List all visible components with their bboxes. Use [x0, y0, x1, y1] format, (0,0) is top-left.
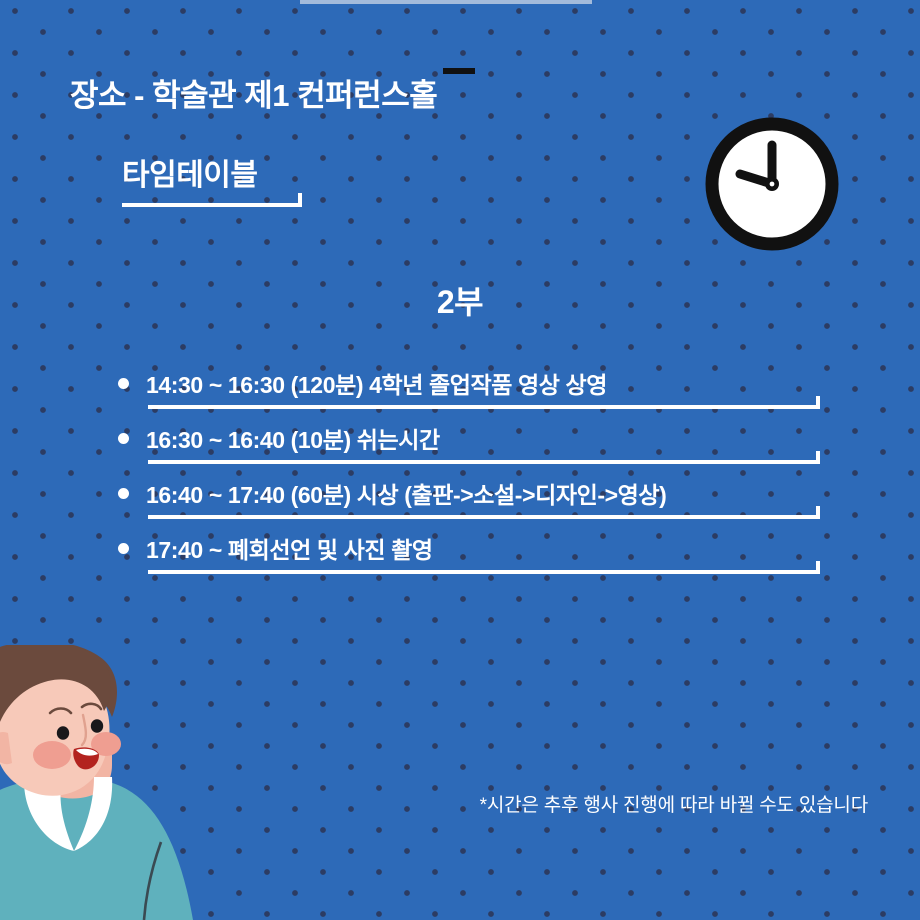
schedule-item-underline: [148, 405, 820, 409]
schedule-item-text: 16:30 ~ 16:40 (10분) 쉬는시간: [146, 421, 440, 455]
part-heading: 2부: [0, 277, 920, 323]
timetable-heading-block: 타임테이블: [122, 158, 302, 207]
schedule-item-text: 16:40 ~ 17:40 (60분) 시상 (출판->소설->디자인->영상): [146, 476, 666, 510]
schedule-item-text: 17:40 ~ 폐회선언 및 사진 촬영: [146, 531, 433, 565]
schedule-item-underline: [148, 515, 820, 519]
bullet-icon: [118, 543, 129, 554]
title-strike-bar: [443, 68, 475, 74]
top-light-strip: [300, 0, 592, 4]
timetable-underline: [122, 203, 302, 207]
boy-illustration: [0, 645, 232, 920]
clock-icon: [705, 117, 839, 251]
poster-canvas: 장소 - 학술관 제1 컨퍼런스홀 타임테이블 2부 14:30 ~ 16:30…: [0, 0, 920, 920]
bullet-icon: [118, 378, 129, 389]
schedule-list: 14:30 ~ 16:30 (120분) 4학년 졸업작품 영상 상영 16:3…: [118, 366, 828, 586]
schedule-item-underline: [148, 570, 820, 574]
list-item: 14:30 ~ 16:30 (120분) 4학년 졸업작품 영상 상영: [118, 366, 828, 421]
list-item: 16:30 ~ 16:40 (10분) 쉬는시간: [118, 421, 828, 476]
place-title: 장소 - 학술관 제1 컨퍼런스홀: [70, 70, 437, 115]
list-item: 17:40 ~ 폐회선언 및 사진 촬영: [118, 531, 828, 586]
footnote-text: *시간은 추후 행사 진행에 따라 바뀔 수도 있습니다: [480, 790, 868, 817]
timetable-title: 타임테이블: [122, 158, 302, 194]
list-item: 16:40 ~ 17:40 (60분) 시상 (출판->소설->디자인->영상): [118, 476, 828, 531]
bullet-icon: [118, 433, 129, 444]
bullet-icon: [118, 488, 129, 499]
schedule-item-text: 14:30 ~ 16:30 (120분) 4학년 졸업작품 영상 상영: [146, 366, 607, 400]
schedule-item-underline: [148, 460, 820, 464]
